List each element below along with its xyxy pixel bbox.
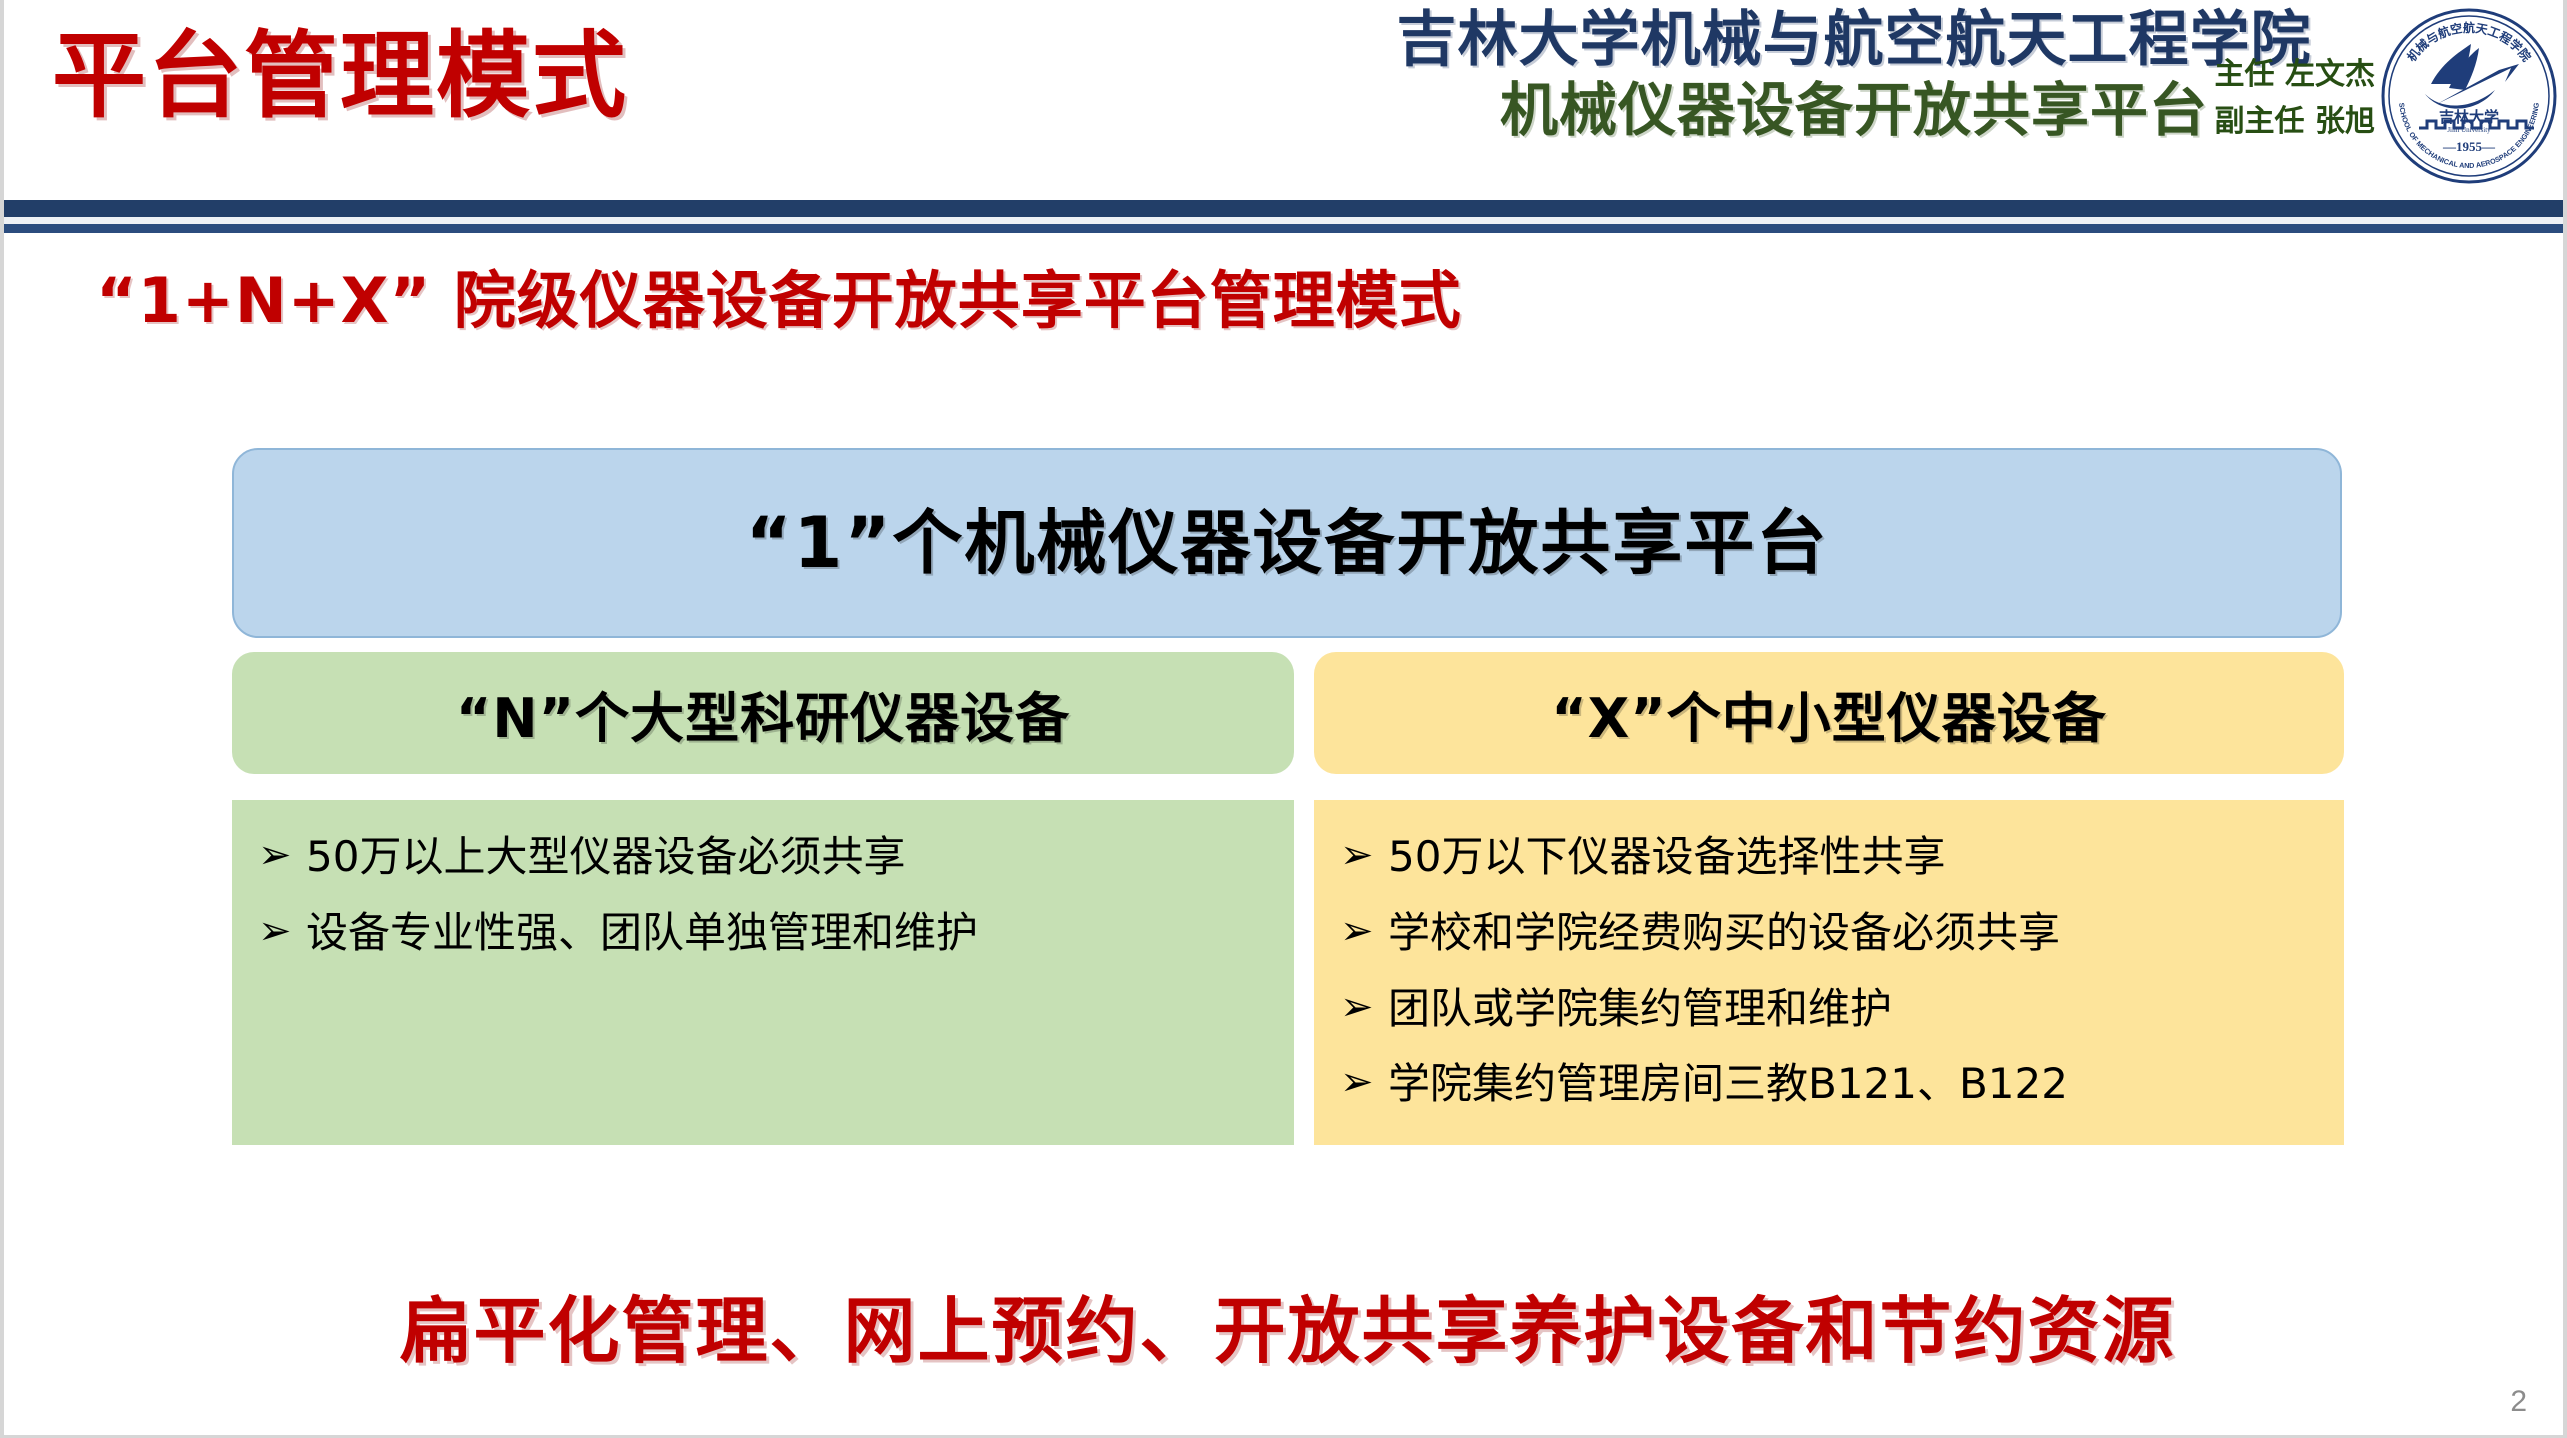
svg-text:—1955—: —1955—	[2442, 139, 2496, 154]
column-x-header-box: “X”个中小型仪器设备	[1314, 652, 2344, 774]
list-item-label: 学校和学院经费购买的设备必须共享	[1388, 906, 2318, 960]
header-divider-thick	[4, 200, 2567, 217]
arrow-bullet-icon: ➢	[1340, 1057, 1388, 1108]
footer-slogan: 扁平化管理、网上预约、开放共享养护设备和节约资源	[4, 1272, 2567, 1377]
platform-top-box-label: “1”个机械仪器设备开放共享平台	[746, 487, 1829, 588]
page-title: 平台管理模式	[52, 28, 628, 127]
list-item-label: 设备专业性强、团队单独管理和维护	[306, 906, 1268, 960]
column-n-bullet-list: ➢ 50万以上大型仪器设备必须共享 ➢ 设备专业性强、团队单独管理和维护	[258, 830, 1268, 960]
staff-director: 主任 左文杰	[2215, 52, 2375, 99]
column-x-bullet-list: ➢ 50万以下仪器设备选择性共享 ➢ 学校和学院经费购买的设备必须共享 ➢ 团队…	[1340, 830, 2318, 1111]
list-item-label: 50万以下仪器设备选择性共享	[1388, 830, 2318, 884]
column-n-header-label: “N”个大型科研仪器设备	[456, 674, 1070, 753]
arrow-bullet-icon: ➢	[1340, 982, 1388, 1033]
column-n-content-box: ➢ 50万以上大型仪器设备必须共享 ➢ 设备专业性强、团队单独管理和维护	[232, 800, 1294, 1145]
header-divider-gap	[4, 217, 2567, 224]
list-item-label: 50万以上大型仪器设备必须共享	[306, 830, 1268, 884]
staff-deputy-director: 副主任 张旭	[2215, 99, 2375, 146]
list-item-label: 学院集约管理房间三教B121、B122	[1388, 1057, 2318, 1111]
column-x-header-label: “X”个中小型仪器设备	[1551, 674, 2107, 753]
list-item-label: 团队或学院集约管理和维护	[1388, 982, 2318, 1036]
list-item: ➢ 50万以上大型仪器设备必须共享	[258, 830, 1268, 884]
page-number: 2	[2510, 1385, 2527, 1419]
list-item: ➢ 50万以下仪器设备选择性共享	[1340, 830, 2318, 884]
column-n-header-box: “N”个大型科研仪器设备	[232, 652, 1294, 774]
section-subtitle: “1+N+X” 院级仪器设备开放共享平台管理模式	[96, 250, 1462, 340]
organization-block: 吉林大学机械与航空航天工程学院 机械仪器设备开放共享平台	[1349, 6, 2359, 144]
header-divider-thin	[4, 224, 2567, 233]
arrow-bullet-icon: ➢	[258, 906, 306, 957]
university-seal-icon: 机械与航空航天工程学院 SCHOOL OF MECHANICAL AND AER…	[2379, 6, 2559, 186]
slide-canvas: 平台管理模式 吉林大学机械与航空航天工程学院 机械仪器设备开放共享平台 主任 左…	[0, 0, 2567, 1438]
list-item: ➢ 学院集约管理房间三教B121、B122	[1340, 1057, 2318, 1111]
list-item: ➢ 学校和学院经费购买的设备必须共享	[1340, 906, 2318, 960]
arrow-bullet-icon: ➢	[1340, 830, 1388, 881]
organization-name: 吉林大学机械与航空航天工程学院	[1349, 6, 2359, 75]
staff-list: 主任 左文杰 副主任 张旭	[2215, 52, 2375, 145]
list-item: ➢ 设备专业性强、团队单独管理和维护	[258, 906, 1268, 960]
list-item: ➢ 团队或学院集约管理和维护	[1340, 982, 2318, 1036]
slide-header: 平台管理模式 吉林大学机械与航空航天工程学院 机械仪器设备开放共享平台 主任 左…	[4, 0, 2567, 198]
arrow-bullet-icon: ➢	[258, 830, 306, 881]
platform-name: 机械仪器设备开放共享平台	[1349, 77, 2359, 144]
arrow-bullet-icon: ➢	[1340, 906, 1388, 957]
platform-top-box: “1”个机械仪器设备开放共享平台	[232, 448, 2342, 638]
column-x-content-box: ➢ 50万以下仪器设备选择性共享 ➢ 学校和学院经费购买的设备必须共享 ➢ 团队…	[1314, 800, 2344, 1145]
